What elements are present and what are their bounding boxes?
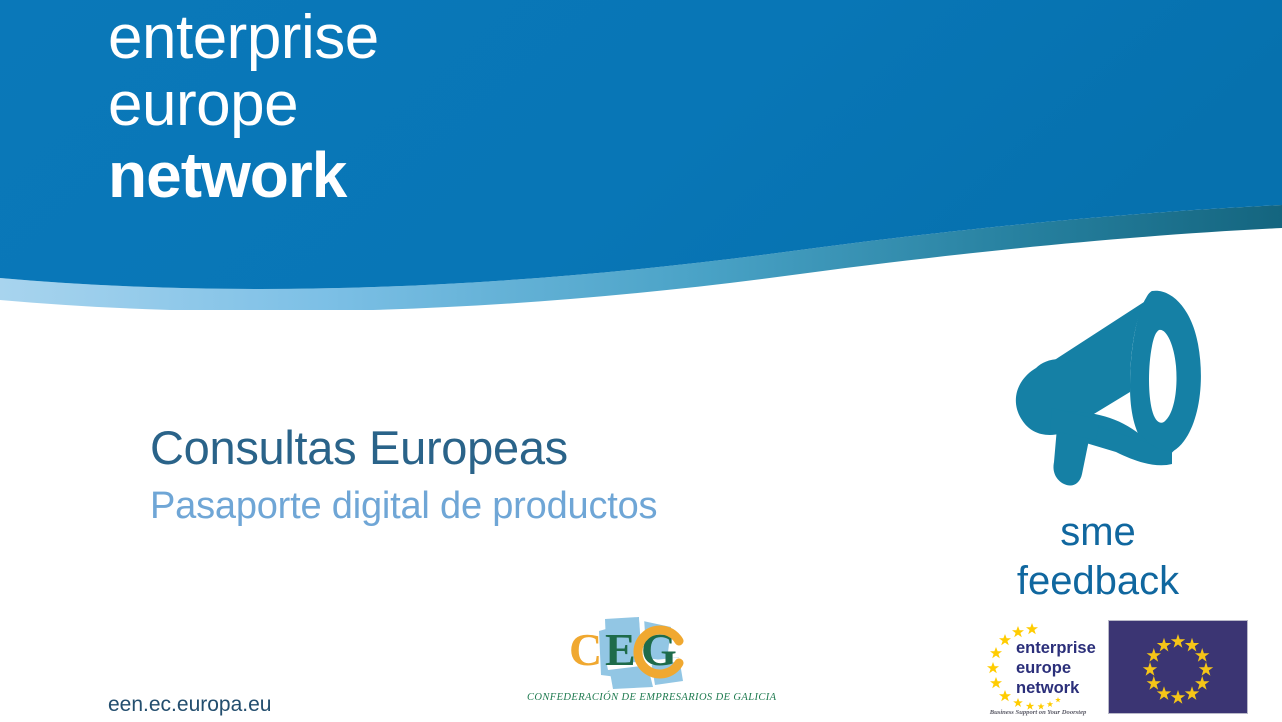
een-wordmark: enterprise europe network — [108, 8, 528, 218]
footer-website-url: een.ec.europa.eu — [108, 693, 271, 717]
een-wordmark-line-network: network — [108, 144, 528, 207]
slide-canvas: enterprise europe network Consultas Euro… — [0, 0, 1282, 722]
megaphone-icon — [996, 288, 1206, 488]
een-small-line-enterprise: enterprise — [1016, 639, 1096, 657]
een-wordmark-line-enterprise: enterprise — [108, 8, 528, 69]
page-title: Consultas Europeas — [150, 423, 930, 472]
ceg-logo: C E G CONFEDERACIÓN DE EMPRESARIOS DE GA… — [527, 617, 767, 717]
ceg-logo-mark: C E G — [547, 617, 727, 689]
sme-feedback-line-2: feedback — [990, 557, 1206, 606]
sme-feedback-caption: sme feedback — [990, 508, 1206, 606]
een-small-line-europe: europe — [1016, 659, 1071, 677]
een-wordmark-line-europe: europe — [108, 75, 528, 136]
page-subtitle: Pasaporte digital de productos — [150, 487, 930, 527]
sme-feedback-line-1: sme — [990, 508, 1206, 557]
eu-flag-icon — [1108, 620, 1248, 714]
een-small-line-network: network — [1016, 679, 1080, 697]
een-small-tagline: Business Support on Your Doorstep — [989, 709, 1087, 716]
svg-text:C: C — [569, 624, 602, 675]
ceg-logo-caption: CONFEDERACIÓN DE EMPRESARIOS DE GALICIA — [527, 692, 767, 703]
header-banner: enterprise europe network — [0, 0, 1282, 310]
slide-headline-block: Consultas Europeas Pasaporte digital de … — [150, 423, 930, 527]
svg-text:E: E — [605, 624, 636, 675]
een-small-logo: enterprise europe network Business Suppo… — [978, 619, 1098, 719]
